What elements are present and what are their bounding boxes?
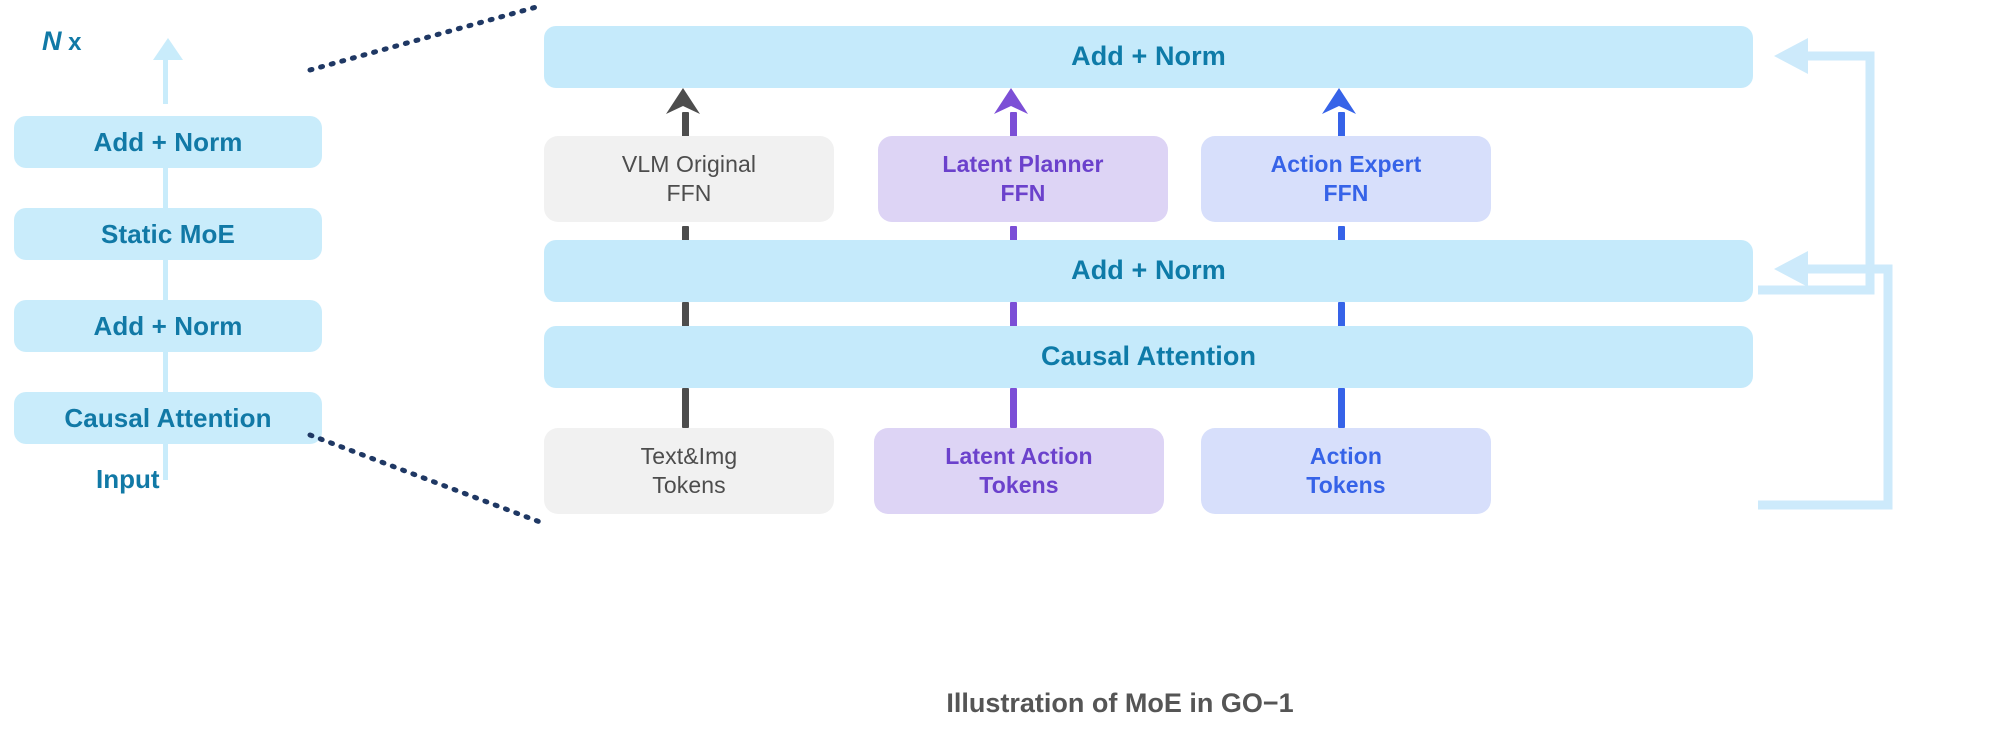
left-block-label: Causal Attention (64, 402, 271, 435)
left-output-line (163, 60, 168, 104)
left-block-static-moe: Static MoE (14, 208, 322, 260)
arrowhead-vlm-up-icon (666, 88, 700, 118)
figure-canvas: N x Add + Norm Static MoE Add + Norm Cau… (0, 0, 2014, 748)
moe-token-label: Action Tokens (1306, 442, 1385, 500)
residual-arrowhead-upper-icon (1774, 38, 1808, 74)
moe-causal-attention-label: Causal Attention (1041, 340, 1256, 374)
moe-add-norm-mid-label: Add + Norm (1071, 254, 1226, 288)
moe-add-norm-top: Add + Norm (544, 26, 1753, 88)
moe-latent-planner-ffn: Latent Planner FFN (878, 136, 1168, 222)
moe-token-label: Latent Action Tokens (945, 442, 1092, 500)
repeat-count-n: N (42, 26, 62, 56)
residual-path-lower (1758, 269, 1888, 505)
moe-add-norm-top-label: Add + Norm (1071, 40, 1226, 74)
left-block-causal-attention: Causal Attention (14, 392, 322, 444)
moe-add-norm-mid: Add + Norm (544, 240, 1753, 302)
arrowhead-latent-planner-up-icon (994, 88, 1028, 118)
moe-latent-action-tokens: Latent Action Tokens (874, 428, 1164, 514)
callout-leader-bottom-icon (310, 435, 540, 522)
moe-vlm-original-ffn: VLM Original FFN (544, 136, 834, 222)
moe-action-expert-ffn: Action Expert FFN (1201, 136, 1491, 222)
left-block-add-norm-bottom: Add + Norm (14, 300, 322, 352)
residual-path-upper (1758, 56, 1870, 290)
residual-arrowhead-lower-icon (1774, 251, 1808, 287)
left-connector-input (163, 444, 168, 480)
left-block-label: Add + Norm (93, 126, 242, 159)
input-label: Input (96, 464, 160, 495)
left-connector-1 (163, 168, 168, 208)
moe-causal-attention: Causal Attention (544, 326, 1753, 388)
moe-text-img-tokens: Text&Img Tokens (544, 428, 834, 514)
left-block-label: Add + Norm (93, 310, 242, 343)
repeat-count-x: x (62, 29, 82, 56)
figure-caption: Illustration of MoE in GO−1 (540, 688, 1700, 719)
residual-connections (540, 0, 2014, 620)
moe-token-label: Text&Img Tokens (641, 442, 738, 500)
left-connector-2 (163, 260, 168, 300)
left-connector-3 (163, 352, 168, 392)
left-block-label: Static MoE (101, 218, 235, 251)
callout-leader-lines (300, 0, 560, 540)
stem-action-to-causal (1338, 388, 1345, 428)
stem-text-img-to-causal (682, 388, 689, 428)
moe-ffn-label: Latent Planner FFN (942, 150, 1103, 208)
arrowhead-action-expert-up-icon (1322, 88, 1356, 118)
callout-leader-top-icon (310, 6, 540, 70)
left-block-add-norm-top: Add + Norm (14, 116, 322, 168)
figure-caption-text: Illustration of MoE in GO−1 (946, 688, 1293, 718)
moe-ffn-label: VLM Original FFN (622, 150, 756, 208)
stem-latent-action-to-causal (1010, 388, 1017, 428)
left-output-arrowhead-icon (153, 38, 183, 60)
moe-ffn-label: Action Expert FFN (1271, 150, 1422, 208)
repeat-count-label: N x (42, 26, 82, 57)
moe-action-tokens: Action Tokens (1201, 428, 1491, 514)
right-panel-moe-detail: Add + Norm VLM Original FFN Latent Plann… (540, 0, 2014, 700)
